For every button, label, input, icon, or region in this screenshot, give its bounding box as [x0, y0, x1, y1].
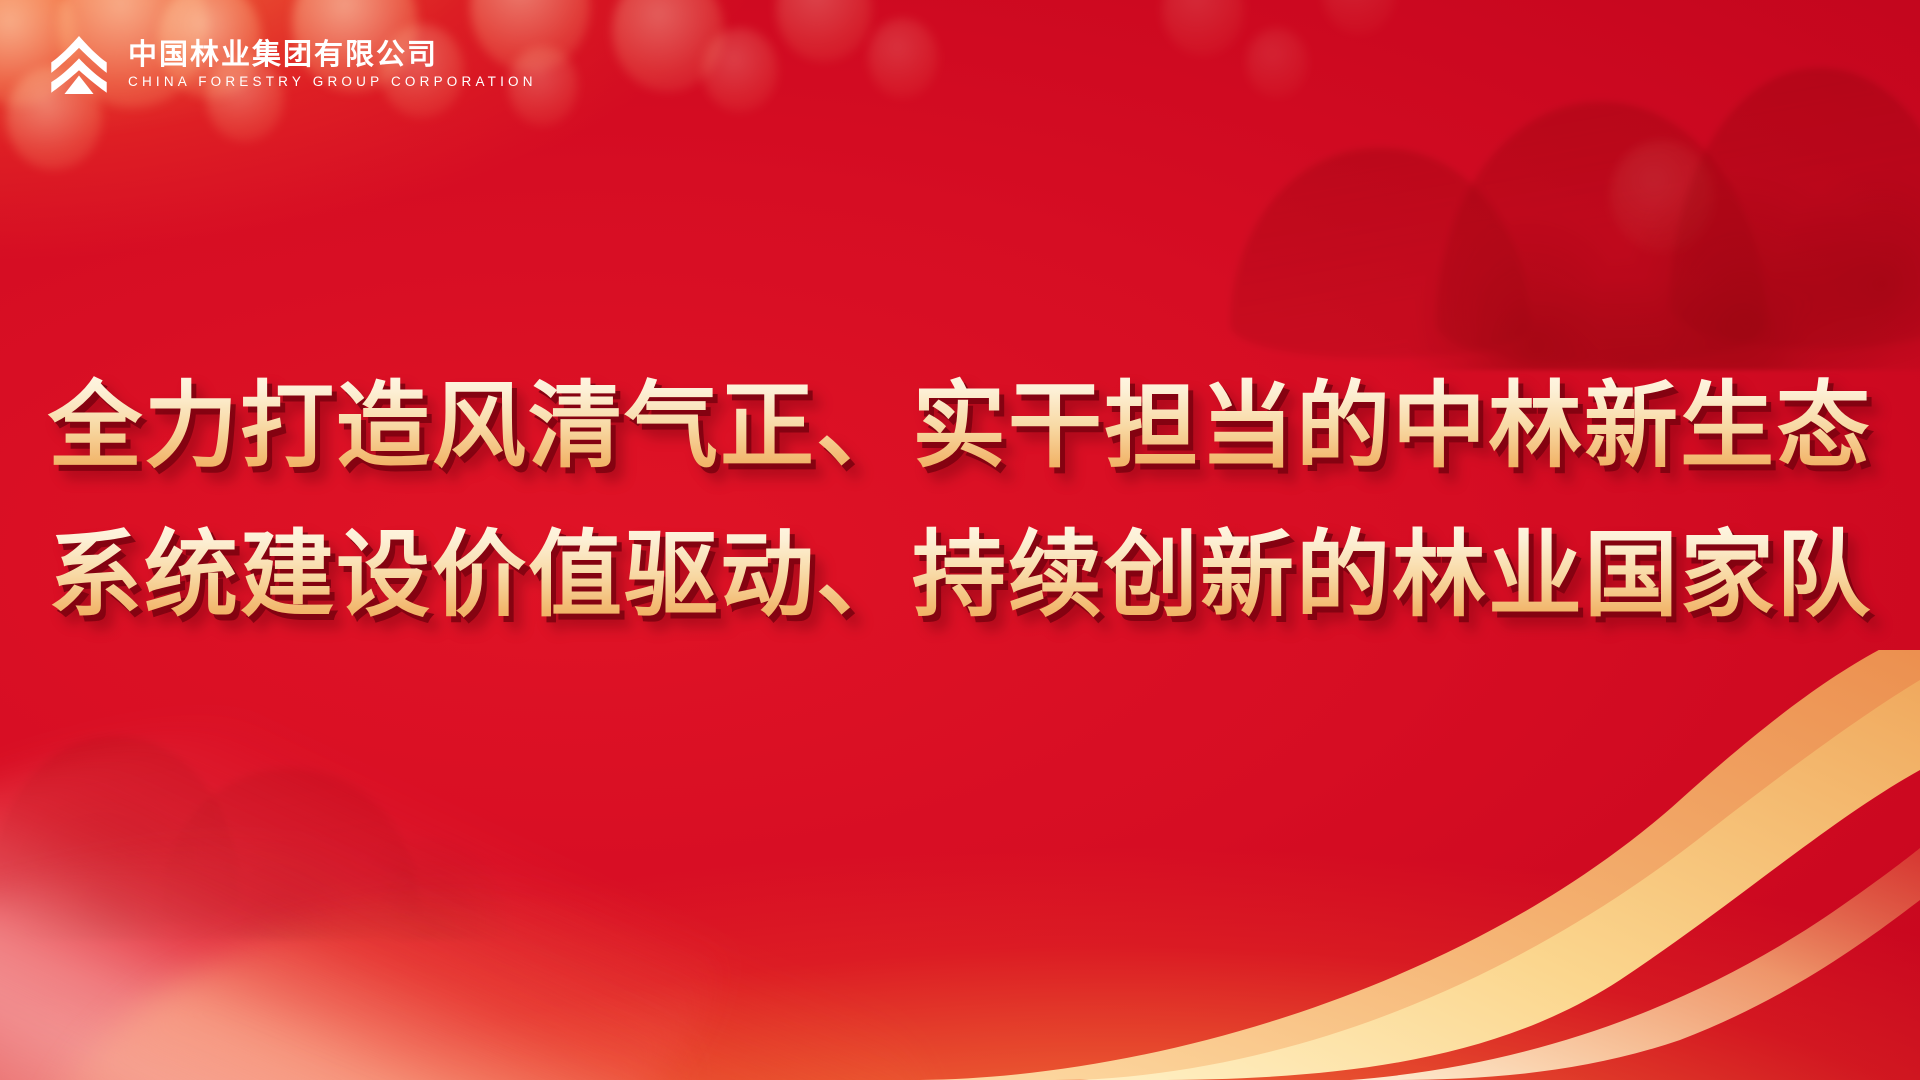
- brand-logo[interactable]: 中国林业集团有限公司 CHINA FORESTRY GROUP CORPORAT…: [46, 32, 537, 98]
- headline-line-2: 系统建设价值驱动、持续创新的林业国家队: [0, 501, 1920, 650]
- logo-company-name-cn: 中国林业集团有限公司: [128, 41, 537, 70]
- poster-canvas: 中国林业集团有限公司 CHINA FORESTRY GROUP CORPORAT…: [0, 0, 1920, 1080]
- gold-ribbon-bottom-right: [920, 650, 1920, 1080]
- great-wall-watermark-top-right: [1200, 40, 1920, 370]
- headline-block: 全力打造风清气正、实干担当的中林新生态 系统建设价值驱动、持续创新的林业国家队: [0, 352, 1920, 649]
- headline-line-1: 全力打造风清气正、实干担当的中林新生态: [0, 352, 1920, 501]
- logo-text-block: 中国林业集团有限公司 CHINA FORESTRY GROUP CORPORAT…: [128, 41, 537, 89]
- logo-company-name-en: CHINA FORESTRY GROUP CORPORATION: [128, 75, 537, 89]
- mountain-logo-icon: [46, 32, 112, 98]
